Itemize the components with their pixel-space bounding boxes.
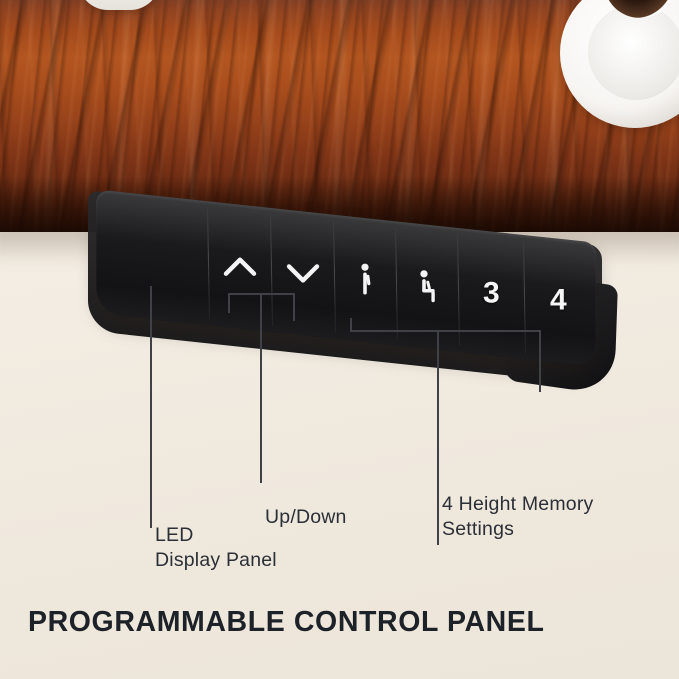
caption: PROGRAMMABLE CONTROL PANEL <box>28 606 544 639</box>
callout-leader-updown <box>260 293 262 483</box>
callout-label-memory: 4 Height Memory Settings <box>442 492 593 542</box>
callout-label-updown: Up/Down <box>265 505 347 530</box>
chevron-down-icon <box>286 262 320 284</box>
memory-1-button[interactable] <box>334 215 396 346</box>
memory-3-label: 3 <box>483 278 500 308</box>
down-button[interactable] <box>271 208 334 339</box>
led-display-panel <box>96 189 208 325</box>
callout-leader-memory <box>437 330 439 545</box>
standing-person-icon <box>355 263 375 297</box>
callout-bracket-updown-right <box>293 293 295 321</box>
control-panel[interactable]: 3 4 <box>96 189 596 366</box>
callout-bracket-updown-left <box>228 293 230 313</box>
memory-4-label: 4 <box>550 286 567 316</box>
memory-3-button[interactable]: 3 <box>458 228 524 359</box>
callout-bracket-memory-right <box>539 330 541 392</box>
product-photo: 3 4 LED Display Panel Up/Down 4 Height M… <box>0 0 679 679</box>
sitting-person-icon <box>415 270 439 304</box>
callout-leader-led <box>150 286 152 528</box>
callout-label-led: LED Display Panel <box>155 523 277 573</box>
callout-bracket-memory-left <box>350 318 352 330</box>
chevron-up-icon <box>223 256 257 278</box>
memory-4-button[interactable]: 4 <box>524 235 592 366</box>
saucer-right-well <box>588 4 679 100</box>
control-panel-assembly: 3 4 <box>86 212 606 427</box>
callout-bracket-memory <box>350 330 540 332</box>
memory-2-button[interactable] <box>396 221 458 352</box>
